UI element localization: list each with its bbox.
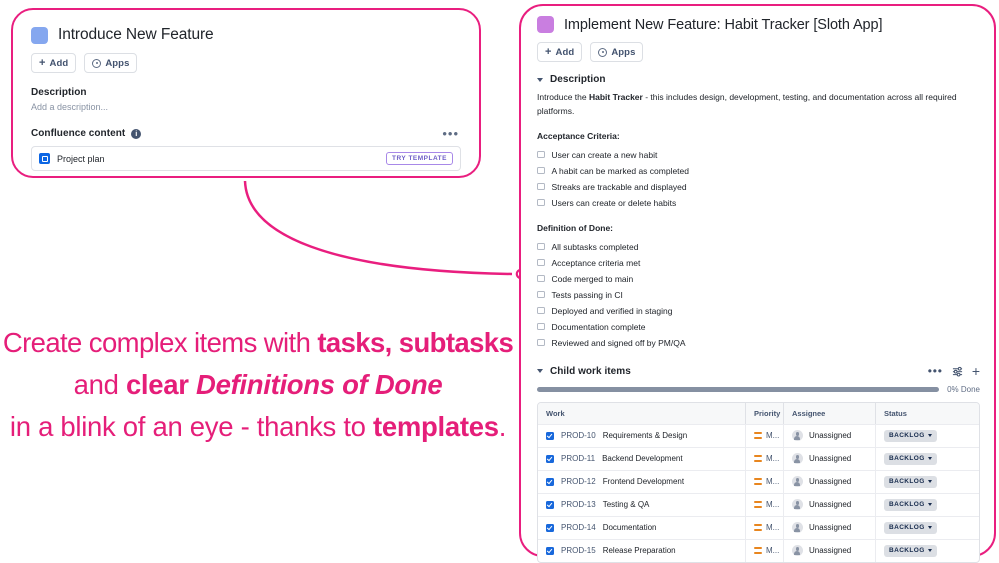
issue-key[interactable]: PROD-10 — [561, 431, 596, 440]
chevron-down-icon — [928, 526, 932, 529]
priority-label: M... — [766, 500, 779, 509]
confluence-content-row[interactable]: Project plan TRY TEMPLATE — [31, 146, 461, 171]
issue-summary[interactable]: Backend Development — [602, 454, 683, 463]
issue-summary[interactable]: Frontend Development — [603, 477, 684, 486]
checkbox-checked-icon[interactable] — [546, 547, 554, 555]
promo-line-2: and clear Definitions of Done — [0, 364, 516, 406]
checkbox-checked-icon[interactable] — [546, 524, 554, 532]
row-status-cell: BACKLOG — [875, 494, 979, 516]
row-priority-cell[interactable]: M... — [745, 517, 783, 539]
row-status-cell: BACKLOG — [875, 471, 979, 493]
row-priority-cell[interactable]: M... — [745, 425, 783, 447]
promo-headline: Create complex items with tasks, subtask… — [0, 322, 516, 447]
assignee-label: Unassigned — [809, 431, 851, 440]
info-icon[interactable]: i — [131, 129, 141, 139]
confluence-page-icon — [39, 153, 50, 164]
list-item[interactable]: Reviewed and signed off by PM/QA — [537, 335, 980, 351]
assignee-label: Unassigned — [809, 523, 851, 532]
confluence-row-label: Project plan — [57, 154, 105, 164]
row-work-cell: PROD-15 Release Preparation — [538, 540, 745, 562]
table-header-row: Work Priority Assignee Status — [538, 403, 979, 424]
issue-key[interactable]: PROD-11 — [561, 454, 595, 463]
row-assignee-cell[interactable]: Unassigned — [783, 448, 875, 470]
table-row[interactable]: PROD-10 Requirements & Design M... Unass… — [538, 424, 979, 447]
add-button[interactable]: + Add — [31, 53, 76, 73]
checkbox-icon[interactable] — [537, 167, 545, 175]
status-label: BACKLOG — [889, 455, 925, 462]
promo-line-2-plain: and — [74, 369, 126, 400]
apps-button[interactable]: Apps — [84, 53, 137, 73]
promo-line-3: in a blink of an eye - thanks to templat… — [0, 406, 516, 448]
assignee-label: Unassigned — [809, 454, 851, 463]
priority-medium-icon — [754, 547, 762, 554]
checkbox-icon[interactable] — [537, 183, 545, 191]
status-label: BACKLOG — [889, 432, 925, 439]
issue-key[interactable]: PROD-13 — [561, 500, 596, 509]
blue-square-icon — [31, 27, 48, 44]
checkbox-checked-icon[interactable] — [546, 478, 554, 486]
left-card-title-row: Introduce New Feature — [31, 26, 461, 44]
row-work-cell: PROD-12 Frontend Development — [538, 471, 745, 493]
person-icon — [792, 430, 803, 441]
checkbox-icon[interactable] — [537, 323, 545, 331]
status-badge[interactable]: BACKLOG — [884, 453, 937, 465]
list-item-label: Documentation complete — [552, 322, 646, 332]
priority-medium-icon — [754, 432, 762, 439]
list-item-label: Deployed and verified in staging — [552, 306, 673, 316]
column-header-status[interactable]: Status — [875, 403, 979, 424]
promo-line-2-italic: Definitions of Done — [196, 369, 442, 400]
description-heading: Description — [550, 74, 606, 85]
chevron-down-icon — [928, 503, 932, 506]
right-card-action-buttons: + Add Apps — [537, 42, 980, 62]
right-issue-card: Implement New Feature: Habit Tracker [Sl… — [519, 4, 996, 557]
list-item[interactable]: Code merged to main — [537, 271, 980, 287]
list-item-label: Users can create or delete habits — [552, 198, 677, 208]
assignee-label: Unassigned — [809, 477, 851, 486]
promo-line-1-bold: tasks, subtasks — [317, 327, 513, 358]
priority-medium-icon — [754, 455, 762, 462]
assignee-label: Unassigned — [809, 546, 851, 555]
status-badge[interactable]: BACKLOG — [884, 545, 937, 557]
chevron-down-icon — [537, 78, 543, 82]
description-body-part-1: Introduce the — [537, 92, 589, 102]
priority-medium-icon — [754, 501, 762, 508]
checkbox-icon[interactable] — [537, 151, 545, 159]
chevron-down-icon[interactable] — [537, 369, 543, 373]
priority-label: M... — [766, 454, 779, 463]
list-item-label: Streaks are trackable and displayed — [552, 182, 687, 192]
apps-icon — [92, 59, 101, 68]
left-issue-card: Introduce New Feature + Add Apps Descrip… — [11, 8, 481, 178]
row-priority-cell[interactable]: M... — [745, 540, 783, 562]
promo-line-1-plain: Create complex items with — [3, 327, 318, 358]
row-assignee-cell[interactable]: Unassigned — [783, 494, 875, 516]
description-body: Introduce the Habit Tracker - this inclu… — [537, 91, 957, 119]
column-header-priority[interactable]: Priority — [745, 403, 783, 424]
filter-settings-icon[interactable] — [952, 366, 963, 377]
list-item[interactable]: Documentation complete — [537, 319, 980, 335]
row-priority-cell[interactable]: M... — [745, 494, 783, 516]
issue-key[interactable]: PROD-12 — [561, 477, 596, 486]
child-items-progress-row: 0% Done — [537, 385, 980, 394]
try-template-button[interactable]: TRY TEMPLATE — [386, 152, 453, 165]
progress-label: 0% Done — [947, 385, 980, 394]
chevron-down-icon — [928, 434, 932, 437]
acceptance-criteria-heading: Acceptance Criteria: — [537, 131, 980, 141]
row-priority-cell[interactable]: M... — [745, 471, 783, 493]
person-icon — [792, 476, 803, 487]
chevron-down-icon — [928, 549, 932, 552]
apps-button-label: Apps — [105, 58, 129, 69]
person-icon — [792, 499, 803, 510]
list-item-label: Reviewed and signed off by PM/QA — [552, 338, 686, 348]
issue-key[interactable]: PROD-14 — [561, 523, 596, 532]
definition-of-done-heading: Definition of Done: — [537, 223, 980, 233]
person-icon — [792, 545, 803, 556]
column-header-assignee[interactable]: Assignee — [783, 403, 875, 424]
issue-summary[interactable]: Documentation — [603, 523, 657, 532]
checkbox-icon[interactable] — [537, 243, 545, 251]
row-work-cell: PROD-13 Testing & QA — [538, 494, 745, 516]
list-item[interactable]: Streaks are trackable and displayed — [537, 179, 980, 195]
plus-icon: + — [545, 47, 552, 58]
status-badge[interactable]: BACKLOG — [884, 499, 937, 511]
table-row[interactable]: PROD-12 Frontend Development M... Unassi… — [538, 470, 979, 493]
child-work-items-header: Child work items ••• + — [537, 366, 980, 377]
checkbox-icon[interactable] — [537, 275, 545, 283]
add-button[interactable]: + Add — [537, 42, 582, 62]
chevron-down-icon — [928, 480, 932, 483]
description-body-bold: Habit Tracker — [589, 92, 643, 102]
status-label: BACKLOG — [889, 524, 925, 531]
row-status-cell: BACKLOG — [875, 540, 979, 562]
issue-summary[interactable]: Release Preparation — [603, 546, 676, 555]
table-row[interactable]: PROD-15 Release Preparation M... Unassig… — [538, 539, 979, 562]
status-badge[interactable]: BACKLOG — [884, 430, 937, 442]
list-item-label: Acceptance criteria met — [552, 258, 641, 268]
row-priority-cell[interactable]: M... — [745, 448, 783, 470]
list-item-label: Tests passing in CI — [552, 290, 623, 300]
row-assignee-cell[interactable]: Unassigned — [783, 425, 875, 447]
checkbox-icon[interactable] — [537, 199, 545, 207]
row-assignee-cell[interactable]: Unassigned — [783, 471, 875, 493]
list-item[interactable]: A habit can be marked as completed — [537, 163, 980, 179]
more-horizontal-icon[interactable]: ••• — [928, 368, 943, 374]
progress-bar — [537, 387, 939, 392]
checkbox-checked-icon[interactable] — [546, 432, 554, 440]
person-icon — [792, 453, 803, 464]
checkbox-checked-icon[interactable] — [546, 455, 554, 463]
column-header-work[interactable]: Work — [538, 403, 745, 424]
row-work-cell: PROD-10 Requirements & Design — [538, 425, 745, 447]
issue-summary[interactable]: Requirements & Design — [603, 431, 687, 440]
row-work-cell: PROD-11 Backend Development — [538, 448, 745, 470]
confluence-content-header: Confluence content i ••• — [31, 128, 461, 139]
row-status-cell: BACKLOG — [875, 517, 979, 539]
purple-square-icon — [537, 16, 554, 33]
description-section-header[interactable]: Description — [537, 74, 980, 85]
add-button-label: Add — [50, 58, 69, 69]
acceptance-criteria-list: User can create a new habit A habit can … — [537, 147, 980, 211]
status-label: BACKLOG — [889, 478, 925, 485]
left-card-action-buttons: + Add Apps — [31, 53, 461, 73]
apps-button-label: Apps — [611, 47, 635, 58]
right-card-title-row: Implement New Feature: Habit Tracker [Sl… — [537, 16, 980, 33]
status-badge[interactable]: BACKLOG — [884, 476, 937, 488]
promo-line-3-plain: in a blink of an eye - thanks to — [10, 411, 373, 442]
child-work-items-heading: Child work items — [550, 366, 631, 377]
list-item-label: A habit can be marked as completed — [552, 166, 690, 176]
promo-line-1: Create complex items with tasks, subtask… — [0, 322, 516, 364]
promo-line-3-period: . — [499, 411, 506, 442]
child-work-items-actions: ••• + — [928, 366, 980, 377]
person-icon — [792, 522, 803, 533]
chevron-down-icon — [928, 457, 932, 460]
list-item[interactable]: Users can create or delete habits — [537, 195, 980, 211]
list-item[interactable]: All subtasks completed — [537, 239, 980, 255]
checkbox-icon[interactable] — [537, 339, 545, 347]
list-item-label: Code merged to main — [552, 274, 634, 284]
checkbox-icon[interactable] — [537, 307, 545, 315]
priority-medium-icon — [754, 478, 762, 485]
priority-label: M... — [766, 546, 779, 555]
priority-label: M... — [766, 523, 779, 532]
list-item[interactable]: User can create a new habit — [537, 147, 980, 163]
row-work-cell: PROD-14 Documentation — [538, 517, 745, 539]
priority-label: M... — [766, 477, 779, 486]
priority-medium-icon — [754, 524, 762, 531]
checkbox-icon[interactable] — [537, 291, 545, 299]
confluence-content-heading: Confluence content — [31, 128, 125, 139]
checkbox-icon[interactable] — [537, 259, 545, 267]
row-status-cell: BACKLOG — [875, 448, 979, 470]
apps-icon — [598, 48, 607, 57]
list-item-label: User can create a new habit — [552, 150, 658, 160]
apps-button[interactable]: Apps — [590, 42, 643, 62]
plus-icon: + — [39, 58, 46, 69]
issue-summary[interactable]: Testing & QA — [603, 500, 650, 509]
description-heading: Description — [31, 87, 461, 98]
promo-line-3-bold: templates — [373, 411, 499, 442]
promo-line-2-bold: clear — [126, 369, 196, 400]
page-title: Introduce New Feature — [58, 26, 214, 44]
child-work-items-table: Work Priority Assignee Status PROD-10 Re… — [537, 402, 980, 563]
definition-of-done-list: All subtasks completed Acceptance criter… — [537, 239, 980, 351]
list-item-label: All subtasks completed — [552, 242, 639, 252]
table-row[interactable]: PROD-14 Documentation M... Unassigned BA… — [538, 516, 979, 539]
row-status-cell: BACKLOG — [875, 425, 979, 447]
issue-key[interactable]: PROD-15 — [561, 546, 596, 555]
status-label: BACKLOG — [889, 547, 925, 554]
list-item[interactable]: Tests passing in CI — [537, 287, 980, 303]
assignee-label: Unassigned — [809, 500, 851, 509]
checkbox-checked-icon[interactable] — [546, 501, 554, 509]
list-item[interactable]: Acceptance criteria met — [537, 255, 980, 271]
right-page-title: Implement New Feature: Habit Tracker [Sl… — [564, 17, 882, 33]
priority-label: M... — [766, 431, 779, 440]
description-placeholder[interactable]: Add a description... — [31, 102, 461, 112]
row-assignee-cell[interactable]: Unassigned — [783, 540, 875, 562]
status-label: BACKLOG — [889, 501, 925, 508]
plus-icon[interactable]: + — [972, 366, 980, 376]
list-item[interactable]: Deployed and verified in staging — [537, 303, 980, 319]
more-horizontal-icon[interactable]: ••• — [440, 130, 461, 138]
status-badge[interactable]: BACKLOG — [884, 522, 937, 534]
add-button-label: Add — [556, 47, 575, 58]
table-row[interactable]: PROD-13 Testing & QA M... Unassigned BAC… — [538, 493, 979, 516]
row-assignee-cell[interactable]: Unassigned — [783, 517, 875, 539]
table-row[interactable]: PROD-11 Backend Development M... Unassig… — [538, 447, 979, 470]
